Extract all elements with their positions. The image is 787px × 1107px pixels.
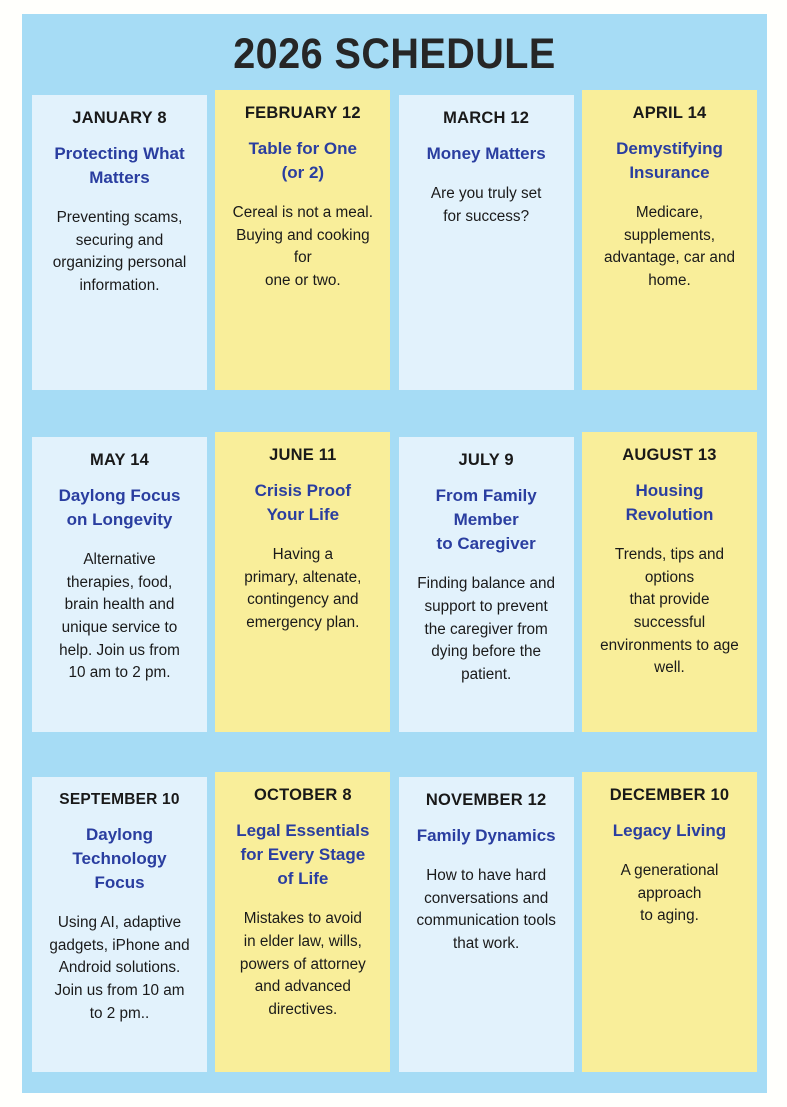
month-card-description: Using AI, adaptive gadgets, iPhone and A…: [38, 912, 201, 1025]
month-card-description: Are you truly set for success?: [405, 183, 568, 228]
month-card-date: JUNE 11: [221, 446, 384, 465]
month-card-november[interactable]: NOVEMBER 12 Family Dynamics How to have …: [399, 777, 574, 1072]
month-card-date: AUGUST 13: [588, 446, 751, 465]
month-card-title: Protecting What Matters: [38, 142, 201, 190]
month-card-may[interactable]: MAY 14 Daylong Focus on Longevity Altern…: [32, 437, 207, 732]
month-card-description: A generational approach to aging.: [588, 860, 751, 928]
month-card-description: Mistakes to avoid in elder law, wills, p…: [221, 908, 384, 1021]
month-card-title: Demystifying Insurance: [588, 137, 751, 185]
month-card-date: DECEMBER 10: [588, 786, 751, 805]
month-row-2: MAY 14 Daylong Focus on Longevity Altern…: [22, 432, 767, 732]
month-card-title: Family Dynamics: [405, 824, 568, 848]
month-card-description: Cereal is not a meal. Buying and cooking…: [221, 202, 384, 293]
month-card-date: JULY 9: [405, 451, 568, 470]
month-card-date: JANUARY 8: [38, 109, 201, 128]
month-card-october[interactable]: OCTOBER 8 Legal Essentials for Every Sta…: [215, 772, 390, 1072]
month-card-description: Having a primary, altenate, contingency …: [221, 544, 384, 635]
month-card-june[interactable]: JUNE 11 Crisis Proof Your Life Having a …: [215, 432, 390, 732]
month-card-title: Daylong Focus on Longevity: [38, 484, 201, 532]
month-row-1: JANUARY 8 Protecting What Matters Preven…: [22, 90, 767, 390]
month-card-date: NOVEMBER 12: [405, 791, 568, 810]
month-card-title: From Family Member to Caregiver: [405, 484, 568, 556]
month-card-title: Housing Revolution: [588, 479, 751, 527]
month-card-description: Preventing scams, securing and organizin…: [38, 207, 201, 298]
month-card-title: Table for One (or 2): [221, 137, 384, 185]
month-card-march[interactable]: MARCH 12 Money Matters Are you truly set…: [399, 95, 574, 390]
month-card-april[interactable]: APRIL 14 Demystifying Insurance Medicare…: [582, 90, 757, 390]
month-card-description: Medicare, supplements, advantage, car an…: [588, 202, 751, 293]
month-card-february[interactable]: FEBRUARY 12 Table for One (or 2) Cereal …: [215, 90, 390, 390]
month-card-title: Crisis Proof Your Life: [221, 479, 384, 527]
month-card-date: SEPTEMBER 10: [38, 791, 201, 809]
page-title: 2026 SCHEDULE: [52, 14, 737, 76]
month-card-title: Legacy Living: [588, 819, 751, 843]
month-row-3: SEPTEMBER 10 Daylong Technology Focus Us…: [22, 772, 767, 1072]
month-card-date: APRIL 14: [588, 104, 751, 123]
month-card-date: OCTOBER 8: [221, 786, 384, 805]
month-card-description: Finding balance and support to prevent t…: [405, 573, 568, 686]
month-card-january[interactable]: JANUARY 8 Protecting What Matters Preven…: [32, 95, 207, 390]
month-card-december[interactable]: DECEMBER 10 Legacy Living A generational…: [582, 772, 757, 1072]
month-card-july[interactable]: JULY 9 From Family Member to Caregiver F…: [399, 437, 574, 732]
month-card-description: How to have hard conversations and commu…: [405, 865, 568, 956]
month-card-date: MARCH 12: [405, 109, 568, 128]
month-card-title: Daylong Technology Focus: [38, 823, 201, 895]
month-card-description: Trends, tips and options that provide su…: [588, 544, 751, 680]
month-card-date: MAY 14: [38, 451, 201, 470]
month-card-title: Legal Essentials for Every Stage of Life: [221, 819, 384, 891]
schedule-poster: 2026 SCHEDULE JANUARY 8 Protecting What …: [22, 14, 767, 1093]
month-card-description: Alternative therapies, food, brain healt…: [38, 549, 201, 685]
month-card-title: Money Matters: [405, 142, 568, 166]
month-card-date: FEBRUARY 12: [221, 104, 384, 123]
month-card-september[interactable]: SEPTEMBER 10 Daylong Technology Focus Us…: [32, 777, 207, 1072]
month-card-august[interactable]: AUGUST 13 Housing Revolution Trends, tip…: [582, 432, 757, 732]
